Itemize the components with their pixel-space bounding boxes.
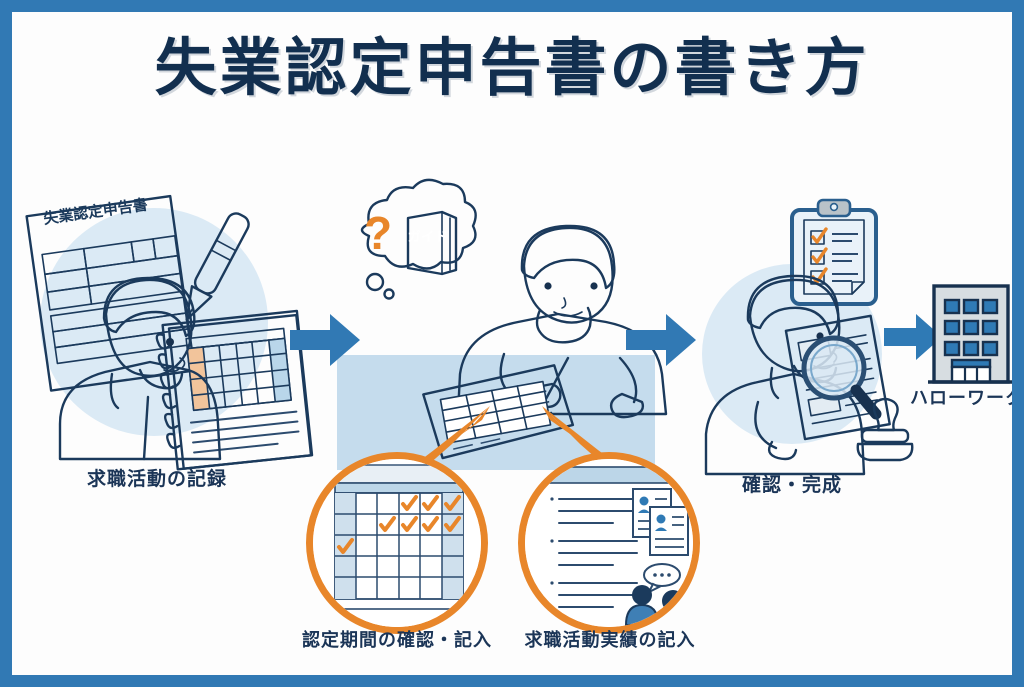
- arrow-step1-to-step2: [290, 312, 360, 368]
- page-title: 失業認定申告書の書き方: [12, 36, 1012, 101]
- calendar-grid-checkmarks: [313, 459, 488, 634]
- caption-detail-2: 求職活動実績の記入: [490, 626, 730, 652]
- person-recording: [52, 274, 227, 459]
- activity-record-document: [525, 459, 700, 634]
- caption-detail-1: 認定期間の確認・記入: [277, 626, 517, 652]
- caption-step-3: 確認・完成: [692, 470, 892, 497]
- poster-frame: 失業認定申告書の書き方 失業認定申告書: [0, 0, 1024, 687]
- office-building-icon: [924, 280, 1012, 390]
- caption-step-1: 求職活動の記録: [42, 464, 272, 491]
- poster-canvas: 失業認定申告書の書き方 失業認定申告書: [12, 12, 1012, 675]
- question-mark-icon: ?: [364, 210, 392, 256]
- resume-document-icon: [650, 507, 688, 555]
- hellowork-label: ハローワーク: [892, 384, 1012, 410]
- detail-circle-calendar: [306, 452, 488, 634]
- detail-circle-activity: [518, 452, 700, 634]
- arrow-step2-to-step3: [626, 312, 696, 368]
